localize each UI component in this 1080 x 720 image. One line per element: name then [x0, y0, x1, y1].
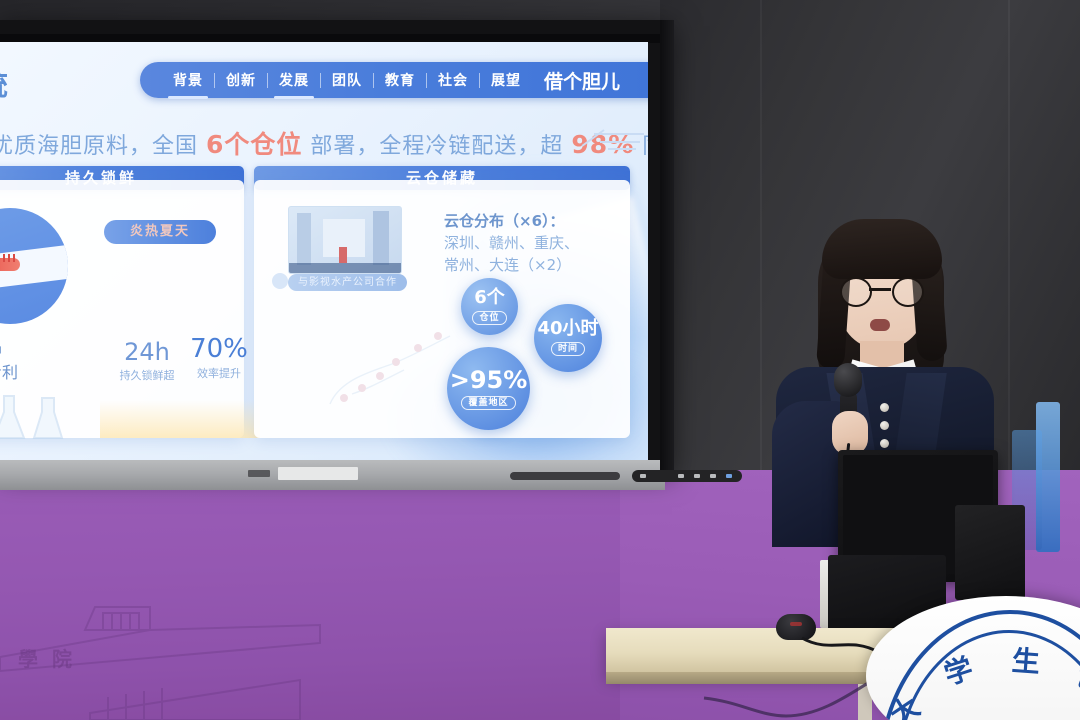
- bubble-2-value: 40小时: [537, 320, 598, 338]
- headline-highlight-warehouses: 6个仓位: [206, 130, 302, 159]
- stat-70pct-label: 效率提升: [184, 365, 254, 381]
- tv-screen: 系统 背景 创新 发展 团队 教育 社会 展望: [0, 42, 648, 460]
- bubble-2-tag: 时间: [551, 342, 585, 356]
- photo-foreground: [289, 263, 401, 273]
- wall-seam: [760, 0, 762, 470]
- bubble-coverage: >95% 覆盖地区: [447, 347, 530, 430]
- bubble-3-tag: 覆盖地区: [461, 396, 515, 410]
- left-caption-line2: 保鲜专利: [0, 360, 18, 386]
- sakura-gradient-decoration: [100, 400, 260, 438]
- glasses-lens-left: [840, 277, 872, 307]
- headline-arrow-decoration: [578, 126, 648, 152]
- blazer-button: [880, 421, 889, 430]
- podium-sign: 大 学 生 创: [866, 596, 1080, 720]
- microphone-icon: [834, 363, 862, 397]
- bubble-3-value: >95%: [450, 368, 528, 392]
- stat-24h-value: 24h: [112, 338, 182, 366]
- tv-menu-icon[interactable]: [678, 474, 684, 478]
- floor-cable: [700, 676, 880, 720]
- left-card-caption: 工产品 保鲜专利: [0, 334, 18, 386]
- nav-item-education[interactable]: 教育: [374, 70, 426, 90]
- monitor-secondary: [955, 505, 1025, 600]
- tv-source-icon[interactable]: [726, 474, 732, 478]
- presentation-slide: 系统 背景 创新 发展 团队 教育 社会 展望: [0, 42, 648, 460]
- warehouse-photo: [288, 206, 402, 274]
- tv-volume-down-icon[interactable]: [694, 474, 700, 478]
- presenter-hair-front: [822, 219, 942, 279]
- stat-70pct-value: 70%: [184, 334, 254, 364]
- bubble-1-value: 6个: [474, 289, 505, 307]
- slide-navbar: 背景 创新 发展 团队 教育 社会 展望 借个胆儿: [140, 62, 648, 98]
- sign-text-group: 大 学 生 创: [866, 596, 1080, 720]
- tv-bezel-sticker: [278, 467, 358, 480]
- tv-brand-logo: [248, 470, 270, 477]
- sign-char-2: 学: [939, 647, 978, 694]
- glasses-lens-right: [892, 277, 924, 307]
- nav-item-society[interactable]: 社会: [427, 70, 479, 90]
- tv-volume-up-icon[interactable]: [710, 474, 716, 478]
- blazer-button: [880, 403, 889, 412]
- presenter-hand: [832, 411, 868, 455]
- left-caption-line1: 工产品: [0, 334, 18, 360]
- nav-item-outlook[interactable]: 展望: [480, 70, 532, 90]
- nav-item-team[interactable]: 团队: [321, 70, 373, 90]
- stat-70pct: 70% 效率提升: [184, 334, 254, 381]
- distribution-line2: 常州、大连（×2）: [444, 254, 579, 276]
- sea-urchin-icon: [0, 258, 20, 271]
- bubble-delivery-time: 40小时 时间: [534, 304, 602, 372]
- distribution-line1: 深圳、赣州、重庆、: [444, 232, 579, 254]
- bubble-1-tag: 仓位: [472, 311, 506, 325]
- distribution-text: 云仓分布（×6）： 深圳、赣州、重庆、 常州、大连（×2）: [444, 210, 579, 276]
- photo-pillar-left: [297, 213, 311, 265]
- stat-24h-label: 持久锁鲜超: [112, 367, 182, 383]
- blazer-button: [880, 439, 889, 448]
- wall-seam: [1008, 0, 1010, 470]
- nav-item-development[interactable]: 发展: [268, 70, 320, 90]
- brand-logo: 借个胆儿: [544, 67, 620, 94]
- partner-caption: 与影视水产公司合作: [288, 274, 407, 291]
- distribution-title: 云仓分布（×6）：: [444, 212, 565, 230]
- glasses-icon: [834, 277, 932, 303]
- beaker-illustration: [0, 394, 80, 440]
- slide-title: 系统: [0, 62, 10, 104]
- mouse-led: [790, 622, 802, 626]
- photo-pillar-right: [373, 211, 389, 265]
- glasses-bridge: [869, 288, 891, 291]
- screenshot-root: 學院 系统 背景 创新 发展 团队: [0, 0, 1080, 720]
- photo-person: [339, 247, 347, 263]
- tv-side-edge: [660, 20, 674, 470]
- sign-char-1: 大: [881, 686, 927, 720]
- nav-item-innovation[interactable]: 创新: [215, 70, 267, 90]
- sign-char-4: 创: [1072, 654, 1080, 701]
- hot-summer-pill: 炎热夏天: [104, 220, 216, 244]
- stat-24h: 24h 持久锁鲜超: [112, 338, 182, 383]
- headline-part2: 部署，全程冷链配送，超: [302, 134, 571, 159]
- bubble-warehouse-count: 6个 仓位: [461, 278, 518, 335]
- handshake-icon: [272, 273, 288, 289]
- slide-headline: 选优质海胆原料，全国 6个仓位 部署，全程冷链配送，超 98% 同行: [0, 125, 648, 161]
- wall-text: 學院: [18, 643, 86, 672]
- headline-part1: 选优质海胆原料，全国: [0, 134, 206, 159]
- tv-control-panel[interactable]: [632, 470, 742, 482]
- sign-char-3: 生: [1011, 639, 1042, 681]
- slide-header: 系统 背景 创新 发展 团队 教育 社会 展望: [0, 48, 648, 100]
- nav-item-background[interactable]: 背景: [162, 70, 214, 90]
- presenter-mouth: [870, 319, 890, 331]
- tv-ir-sensor-bar: [510, 472, 620, 480]
- tv-power-icon[interactable]: [640, 474, 646, 478]
- display-screen-frame: 系统 背景 创新 发展 团队 教育 社会 展望: [0, 20, 672, 470]
